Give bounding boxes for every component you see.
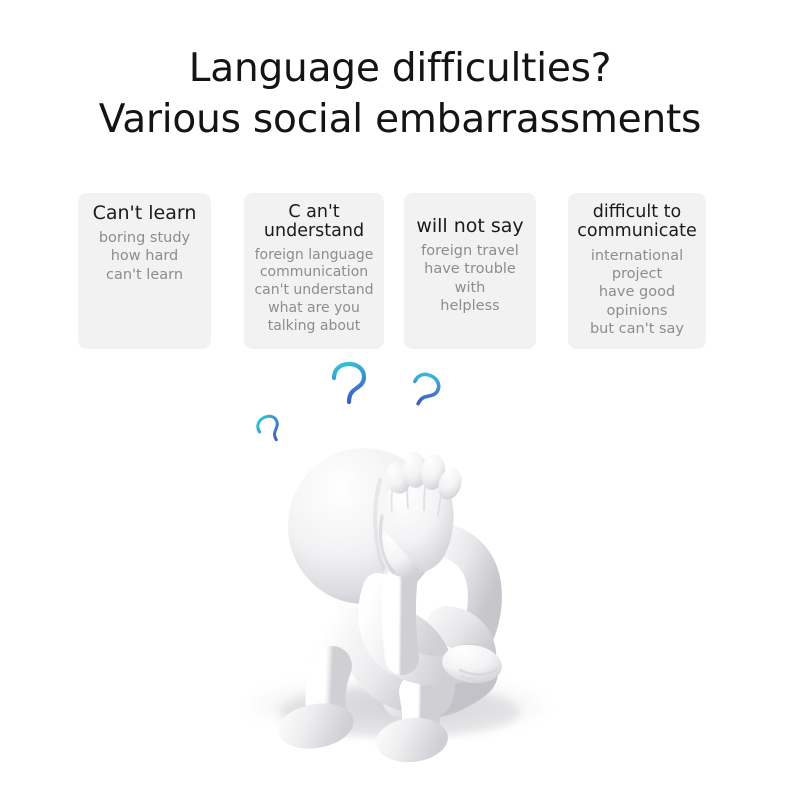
question-mark-icon	[328, 362, 370, 418]
question-mark-icon	[397, 367, 447, 423]
card-body: foreign language communication can't und…	[250, 247, 378, 336]
card-title: Can't learn	[84, 203, 205, 224]
page-title-line-2: Various social embarrassments	[0, 95, 800, 146]
problem-cards-row: Can't learn boring study how hard can't …	[78, 193, 706, 349]
poster-canvas: Language difficulties? Various social em…	[0, 0, 800, 800]
card-cant-understand[interactable]: C an't understand foreign language commu…	[244, 193, 384, 349]
card-body: international project have good opinions…	[574, 247, 700, 339]
card-will-not-say[interactable]: will not say foreign travel have trouble…	[404, 193, 536, 349]
frustrated-3d-figure	[232, 420, 562, 770]
card-difficult-to-communicate[interactable]: difficult to communicate international p…	[568, 193, 706, 349]
card-cant-learn[interactable]: Can't learn boring study how hard can't …	[78, 193, 211, 349]
page-title: Language difficulties? Various social em…	[0, 44, 800, 145]
card-body: boring study how hard can't learn	[84, 229, 205, 284]
card-body: foreign travel have trouble with helples…	[410, 242, 530, 316]
card-title: C an't understand	[250, 203, 378, 242]
card-title: will not say	[410, 203, 530, 237]
card-title: difficult to communicate	[574, 203, 700, 242]
page-title-line-1: Language difficulties?	[0, 44, 800, 95]
